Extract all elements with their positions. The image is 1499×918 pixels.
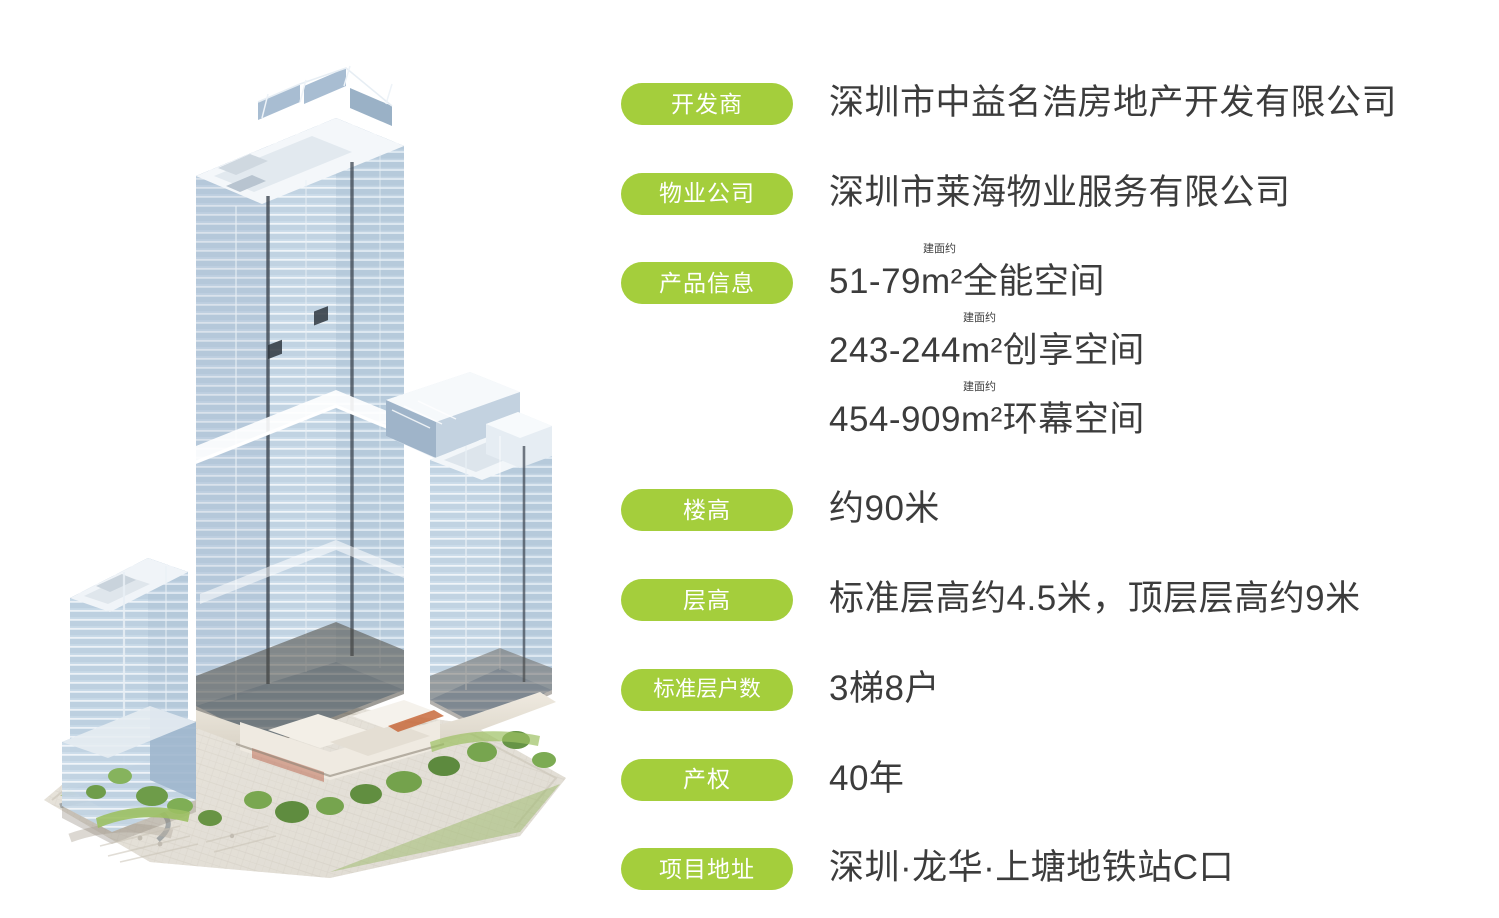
product-area-range: 243-244 (829, 331, 961, 370)
right-tower (430, 412, 552, 728)
spec-row-property-management: 物业公司 深圳市莱海物业服务有限公司 (621, 168, 1481, 218)
spec-value-line: 深圳市中益名浩房地产开发有限公司 (829, 78, 1481, 128)
spec-value-floor-height: 标准层高约4.5米，顶层层高约9米 (829, 574, 1481, 624)
product-line-3: 454-909建面约m²环幕空间 (829, 395, 1481, 445)
project-spec-sheet: 开发商 深圳市中益名浩房地产开发有限公司 物业公司 深圳市莱海物业服务有限公司 … (0, 0, 1499, 918)
building-render-image (0, 0, 600, 918)
spec-row-units-per-floor: 标准层户数 3梯8户 (621, 664, 1481, 714)
spec-value-building-height: 约90米 (829, 484, 1481, 534)
area-unit-note: 建面约 (963, 382, 996, 393)
spec-row-project-address: 项目地址 深圳·龙华·上塘地铁站C口 (621, 843, 1481, 893)
spec-value-line: 约90米 (829, 484, 1481, 534)
product-line-1: 51-79建面约m²全能空间 (829, 257, 1481, 307)
spec-value-property-rights: 40年 (829, 754, 1481, 804)
spec-value-product-info: 51-79建面约m²全能空间 243-244建面约m²创享空间 454-909建… (829, 257, 1481, 444)
spec-row-product-info: 产品信息 51-79建面约m²全能空间 243-244建面约m²创享空间 454… (621, 257, 1481, 444)
area-unit-symbol: m² (961, 331, 1003, 370)
spec-row-developer: 开发商 深圳市中益名浩房地产开发有限公司 (621, 78, 1481, 128)
spec-value-line: 3梯8户 (829, 664, 1481, 714)
spec-label-units-per-floor: 标准层户数 (621, 669, 793, 711)
product-type-name: 环幕空间 (1003, 400, 1145, 439)
spec-row-floor-height: 层高 标准层高约4.5米，顶层层高约9米 (621, 574, 1481, 624)
spec-value-line: 深圳市莱海物业服务有限公司 (829, 168, 1481, 218)
spec-value-line: 深圳·龙华·上塘地铁站C口 (829, 843, 1481, 893)
spec-label-property-management: 物业公司 (621, 173, 793, 215)
spec-value-project-address: 深圳·龙华·上塘地铁站C口 (829, 843, 1481, 893)
product-area-range: 454-909 (829, 400, 961, 439)
spec-row-property-rights: 产权 40年 (621, 754, 1481, 804)
product-type-name: 全能空间 (963, 262, 1105, 301)
product-area-range: 51-79 (829, 262, 921, 301)
spec-label-property-rights: 产权 (621, 759, 793, 801)
spec-label-product-info: 产品信息 (621, 262, 793, 304)
building-render-svg (0, 0, 600, 918)
spec-value-property-management: 深圳市莱海物业服务有限公司 (829, 168, 1481, 218)
spec-label-floor-height: 层高 (621, 579, 793, 621)
building-render-pane (0, 0, 600, 918)
spec-value-units-per-floor: 3梯8户 (829, 664, 1481, 714)
area-unit: 建面约m² (961, 395, 1003, 445)
spec-row-building-height: 楼高 约90米 (621, 484, 1481, 534)
spec-label-project-address: 项目地址 (621, 848, 793, 890)
spec-label-building-height: 楼高 (621, 489, 793, 531)
area-unit: 建面约m² (961, 326, 1003, 376)
spec-value-developer: 深圳市中益名浩房地产开发有限公司 (829, 78, 1481, 128)
spec-value-line: 标准层高约4.5米，顶层层高约9米 (829, 574, 1481, 624)
area-unit-note: 建面约 (923, 244, 956, 255)
area-unit: 建面约m² (921, 257, 963, 307)
product-type-name: 创享空间 (1003, 331, 1145, 370)
area-unit-symbol: m² (921, 262, 963, 301)
product-line-2: 243-244建面约m²创享空间 (829, 326, 1481, 376)
spec-list: 开发商 深圳市中益名浩房地产开发有限公司 物业公司 深圳市莱海物业服务有限公司 … (621, 78, 1481, 893)
central-tower (196, 66, 404, 746)
area-unit-symbol: m² (961, 400, 1003, 439)
spec-value-line: 40年 (829, 754, 1481, 804)
area-unit-note: 建面约 (963, 313, 996, 324)
spec-label-developer: 开发商 (621, 83, 793, 125)
